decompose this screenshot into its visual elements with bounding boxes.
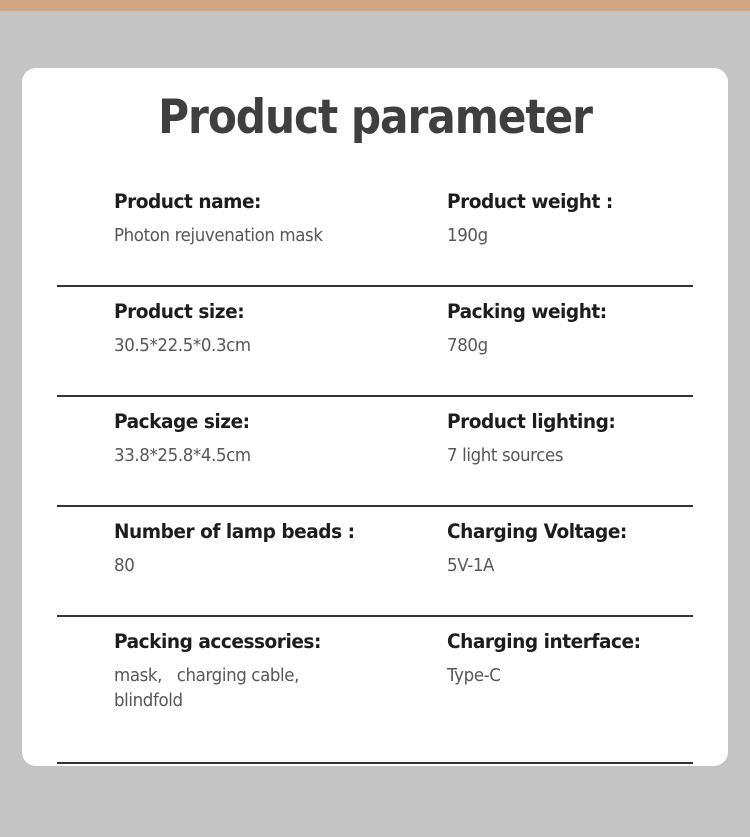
parameter-value: 33.8*25.8*4.5cm [114,444,399,469]
parameter-cell: Product name: Photon rejuvenation mask [114,189,414,249]
parameter-value: 5V-1A [447,554,681,579]
parameter-label: Product name: [114,189,399,215]
parameter-label: Product size: [114,299,399,325]
parameter-label: Product lighting: [447,409,681,435]
parameter-cell: Product weight : 190g [447,189,693,249]
parameter-value: 190g [447,224,681,249]
parameter-value: 7 light sources [447,444,681,469]
table-row: Packing accessories: mask, charging cabl… [57,617,693,764]
parameter-cell: Packing weight: 780g [447,299,693,359]
top-accent-strip [0,0,750,11]
parameter-value: mask, charging cable, blindfold [114,664,352,714]
parameter-label: Product weight : [447,189,681,215]
parameter-value: Photon rejuvenation mask [114,224,399,249]
table-row: Number of lamp beads : 80 Charging Volta… [57,507,693,617]
parameter-cell: Packing accessories: mask, charging cabl… [114,629,414,714]
parameter-table: Product name: Photon rejuvenation mask P… [57,177,693,764]
parameter-cell: Product lighting: 7 light sources [447,409,693,469]
parameter-label: Charging Voltage: [447,519,681,545]
table-row: Product size: 30.5*22.5*0.3cm Packing we… [57,287,693,397]
parameter-label: Package size: [114,409,399,435]
table-row: Product name: Photon rejuvenation mask P… [57,177,693,287]
parameter-cell: Number of lamp beads : 80 [114,519,414,579]
parameter-value: 80 [114,554,399,579]
parameter-cell: Charging interface: Type-C [447,629,693,689]
parameter-cell: Package size: 33.8*25.8*4.5cm [114,409,414,469]
parameter-label: Packing weight: [447,299,681,325]
parameter-value: 30.5*22.5*0.3cm [114,334,399,359]
page-title: Product parameter [57,90,692,146]
row-divider [57,762,693,764]
parameter-label: Number of lamp beads : [114,519,399,545]
parameter-cell: Charging Voltage: 5V-1A [447,519,693,579]
parameter-value: Type-C [447,664,681,689]
parameter-value: 780g [447,334,681,359]
parameter-label: Charging interface: [447,629,681,655]
product-parameter-card: Product parameter Product name: Photon r… [22,68,728,766]
table-row: Package size: 33.8*25.8*4.5cm Product li… [57,397,693,507]
parameter-cell: Product size: 30.5*22.5*0.3cm [114,299,414,359]
parameter-label: Packing accessories: [114,629,399,655]
